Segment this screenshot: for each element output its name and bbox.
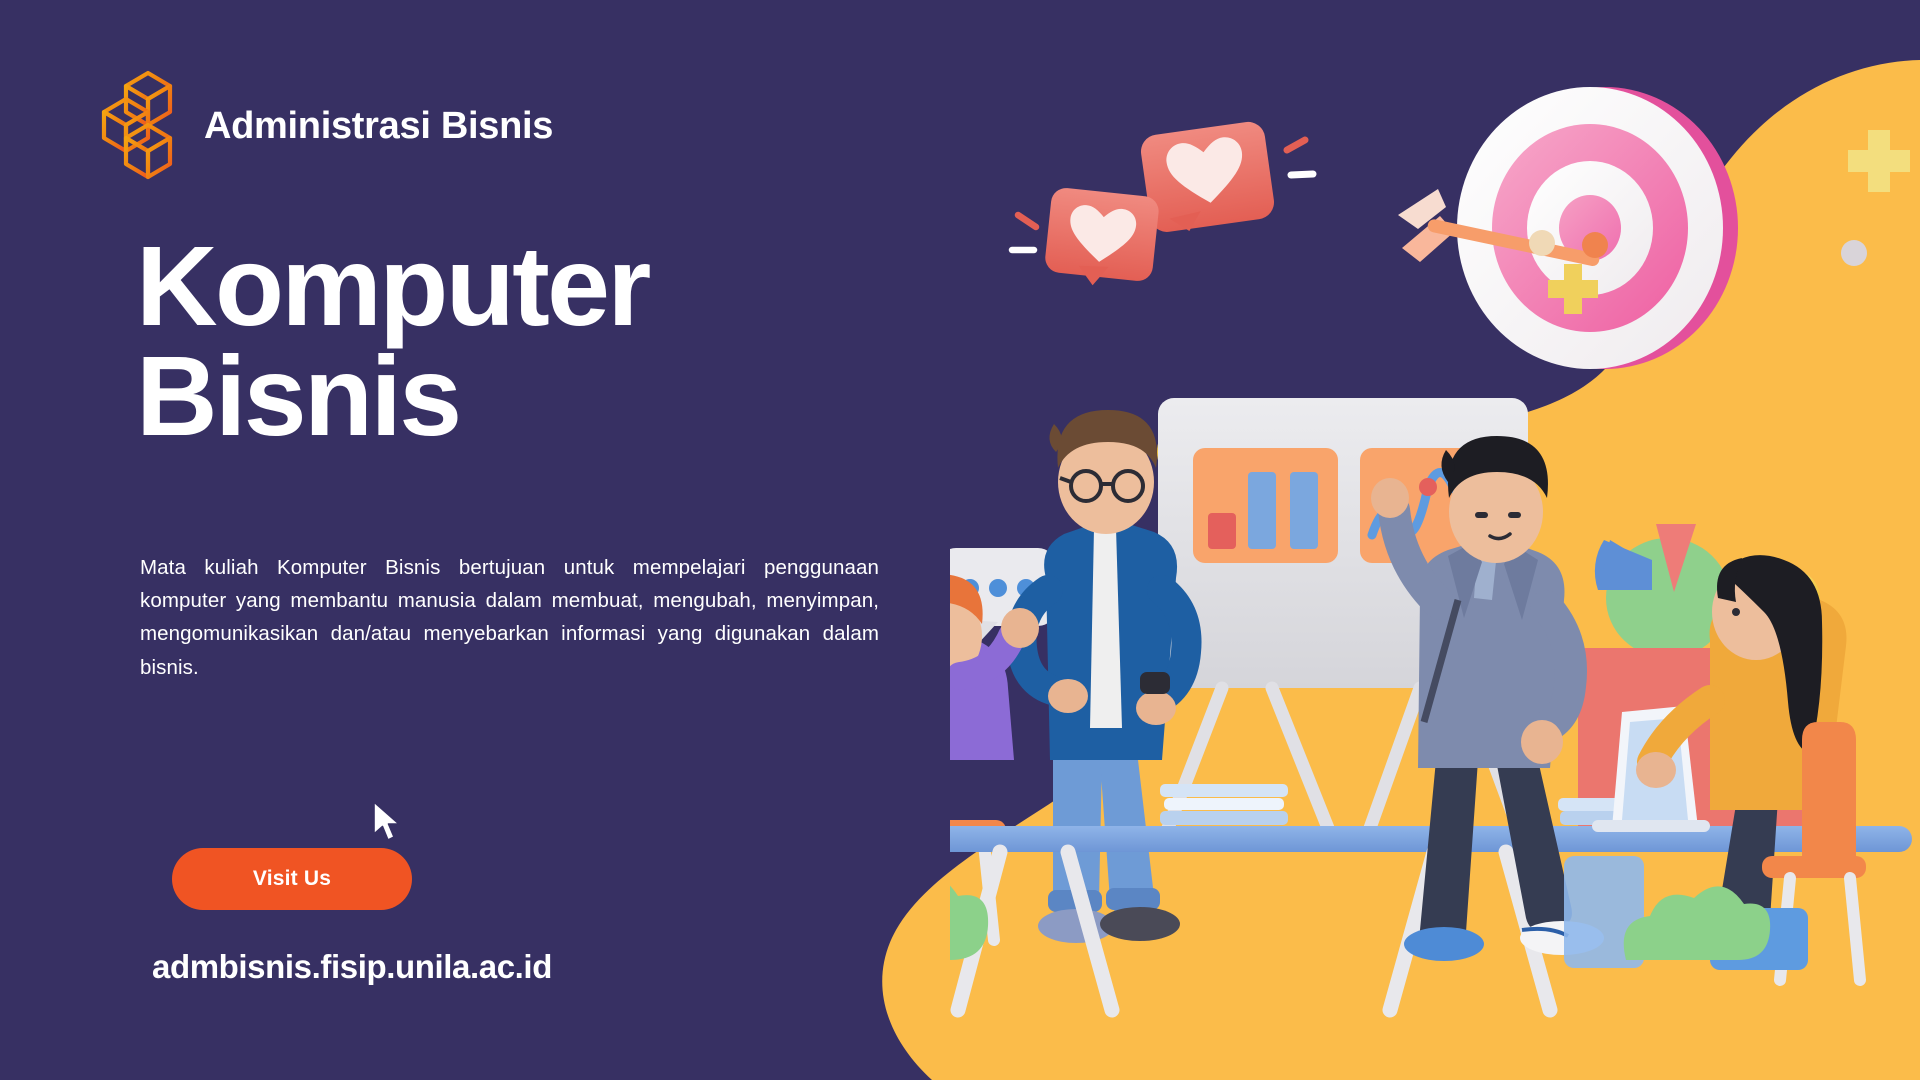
brand-lockup[interactable]: Administrasi Bisnis: [100, 70, 553, 182]
hero-description: Mata kuliah Komputer Bisnis bertujuan un…: [140, 551, 879, 684]
page-title-line2: Bisnis: [136, 342, 896, 452]
bar-chart-panel: [1208, 513, 1236, 549]
business-team-illustration: $ $: [950, 0, 1920, 1080]
visit-us-button[interactable]: Visit Us: [172, 848, 412, 910]
arrow-pointer-icon: [370, 800, 404, 844]
dot-decoration: [1529, 230, 1555, 256]
book-stack-icon: [1160, 784, 1288, 825]
like-bubble-small-icon: [1012, 187, 1160, 287]
brand-name: Administrasi Bisnis: [204, 105, 553, 148]
poster-canvas: Administrasi Bisnis Komputer Bisnis Mata…: [0, 0, 1920, 1080]
website-url[interactable]: admbisnis.fisip.unila.ac.id: [152, 948, 552, 986]
plus-badge-icon: [1848, 130, 1910, 192]
hero-left-column: Administrasi Bisnis Komputer Bisnis Mata…: [0, 0, 920, 1080]
dartboard-target-icon: [1457, 87, 1738, 369]
page-title-line1: Komputer: [136, 223, 649, 349]
dot-decoration: [1841, 240, 1867, 266]
page-title: Komputer Bisnis: [136, 232, 896, 451]
like-bubble-large-icon: [1139, 120, 1313, 234]
isometric-cubes-logo-icon: [100, 70, 178, 182]
pie-chart-icon: [1595, 524, 1730, 658]
